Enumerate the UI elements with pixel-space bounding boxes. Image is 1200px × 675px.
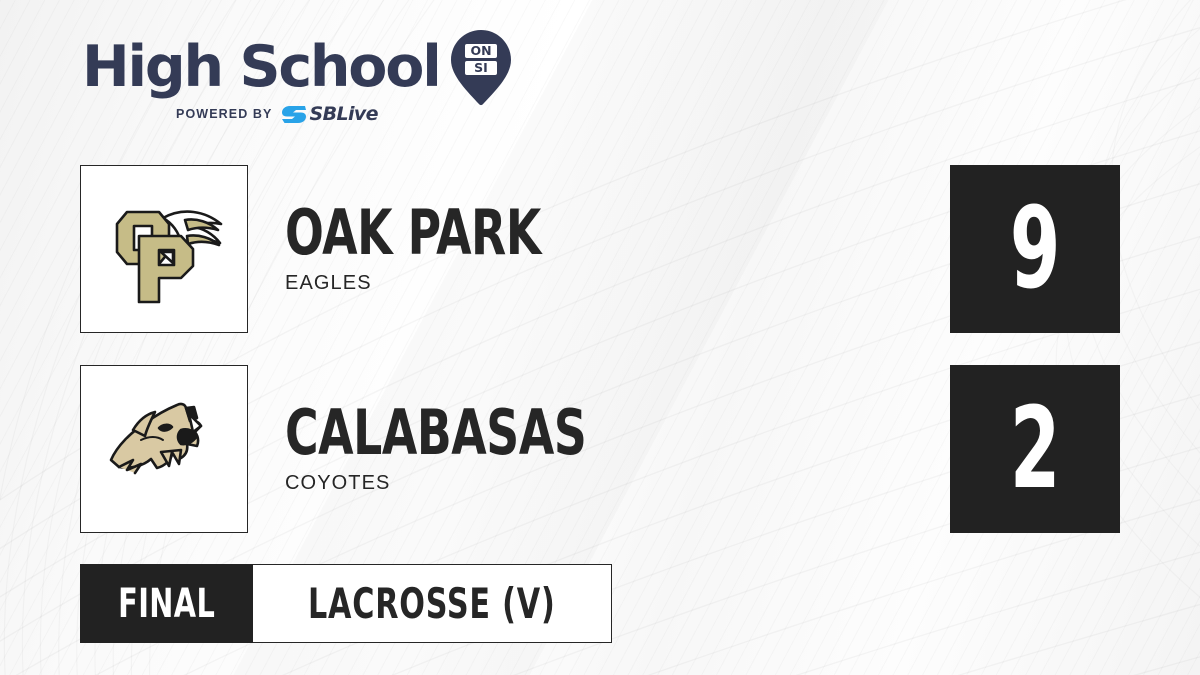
team-text-block: CALABASAS COYOTES: [285, 365, 653, 533]
team-logo-box: [80, 165, 248, 333]
team-score-box: 2: [950, 365, 1120, 533]
svg-text:ON: ON: [470, 43, 491, 58]
team-row: OAK PARK EAGLES 9: [0, 165, 1200, 335]
sblive-wordmark: SBLive: [309, 105, 377, 124]
team-score: 9: [1010, 193, 1060, 305]
on-si-pin-icon: ON SI: [450, 28, 512, 106]
powered-by-label: POWERED BY: [176, 107, 272, 121]
game-status-badge: FINAL: [80, 564, 253, 643]
sblive-s-mark: [281, 105, 307, 124]
team-mascot: COYOTES: [285, 472, 653, 495]
brand-wordmark-row: High School ON SI: [82, 34, 512, 100]
brand-wordmark: High School: [82, 39, 440, 96]
scoreboard-graphic: High School ON SI POWERED BY: [0, 0, 1200, 675]
team-name: OAK PARK: [285, 203, 541, 264]
brand-powered-by-row: POWERED BY SBLive: [82, 104, 472, 124]
team-text-block: OAK PARK EAGLES: [285, 165, 597, 333]
team-score-box: 9: [950, 165, 1120, 333]
sport-label-box: LACROSSE (V): [253, 564, 612, 643]
oak-park-op-eagle-logo-icon: [89, 174, 239, 324]
team-score: 2: [1010, 393, 1060, 505]
team-row: CALABASAS COYOTES 2: [0, 365, 1200, 535]
game-status-label: FINAL: [118, 584, 215, 624]
team-logo-box: [80, 365, 248, 533]
sblive-logo: SBLive: [281, 105, 377, 124]
team-mascot: EAGLES: [285, 272, 597, 295]
svg-text:SI: SI: [474, 60, 488, 75]
brand-header: High School ON SI POWERED BY: [82, 34, 512, 134]
sport-label: LACROSSE (V): [308, 583, 556, 625]
team-name: CALABASAS: [285, 403, 586, 464]
game-status-bar: FINAL LACROSSE (V): [80, 564, 612, 643]
calabasas-coyote-logo-icon: [89, 374, 239, 524]
